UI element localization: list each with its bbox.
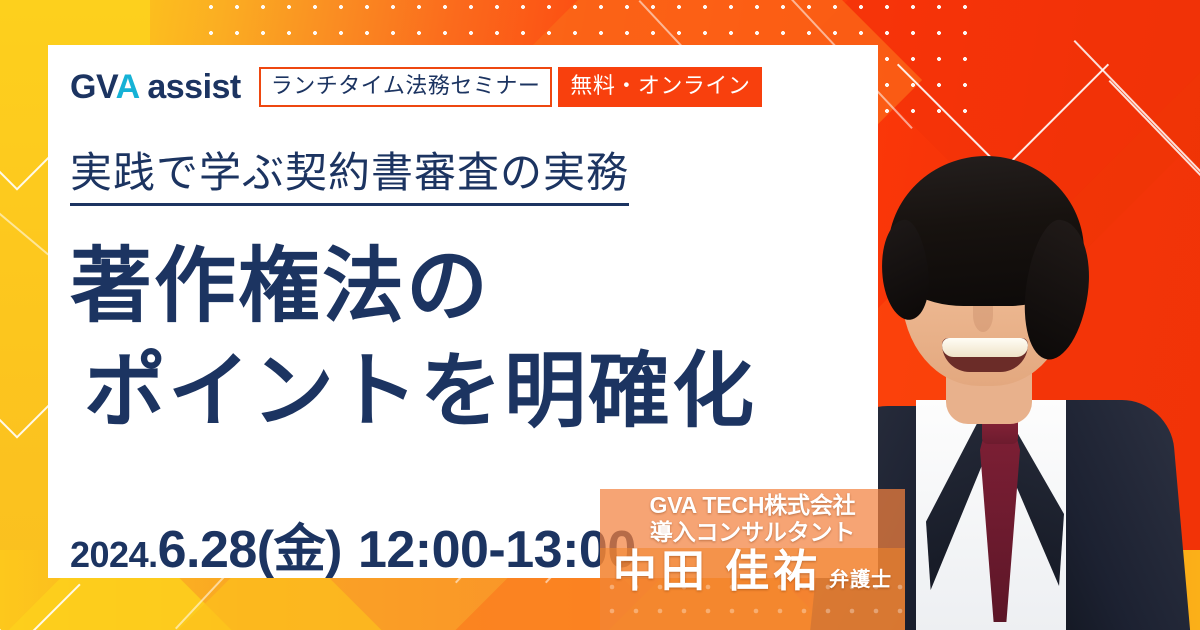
badge-free-online: 無料・オンライン (558, 67, 762, 107)
speaker-qualification: 弁護士 (829, 563, 892, 592)
seminar-title: 著作権法の ポイントを明確化 (70, 235, 756, 445)
card-header: GVA assist ランチタイム法務セミナー 無料・オンライン (70, 67, 762, 107)
seminar-subtitle: 実践で学ぶ契約書審査の実務 (70, 149, 629, 206)
speaker-name-line: 中田 佳祐 弁護士 (600, 548, 905, 596)
speaker-info-panel: GVA TECH株式会社 導入コンサルタント 中田 佳祐 弁護士 (600, 489, 905, 630)
event-time: 12:00-13:00 (358, 520, 636, 580)
event-year: 2024. (70, 534, 158, 576)
seminar-title-line1: 著作権法の (70, 235, 756, 340)
gva-assist-logo: GVA assist (70, 70, 241, 104)
seminar-title-line2: ポイントを明確化 (70, 340, 756, 445)
speaker-name: 中田 佳祐 (613, 548, 821, 596)
logo-text-gv: GV (70, 68, 116, 106)
logo-text-assist: assist (138, 68, 240, 106)
teeth (942, 338, 1028, 357)
badge-seminar-type: ランチタイム法務セミナー (259, 67, 553, 107)
mouth (942, 338, 1028, 372)
speaker-role: 導入コンサルタント (600, 519, 905, 546)
event-datetime: 2024. 6.28(金) 12:00-13:00 (70, 507, 636, 582)
event-month-day: 6.28(金) (158, 507, 342, 582)
logo-text-a: A (116, 68, 139, 106)
speaker-company: GVA TECH株式会社 (600, 492, 905, 519)
badge-group: ランチタイム法務セミナー 無料・オンライン (259, 67, 763, 107)
speaker-text-block: GVA TECH株式会社 導入コンサルタント 中田 佳祐 弁護士 (600, 489, 905, 597)
